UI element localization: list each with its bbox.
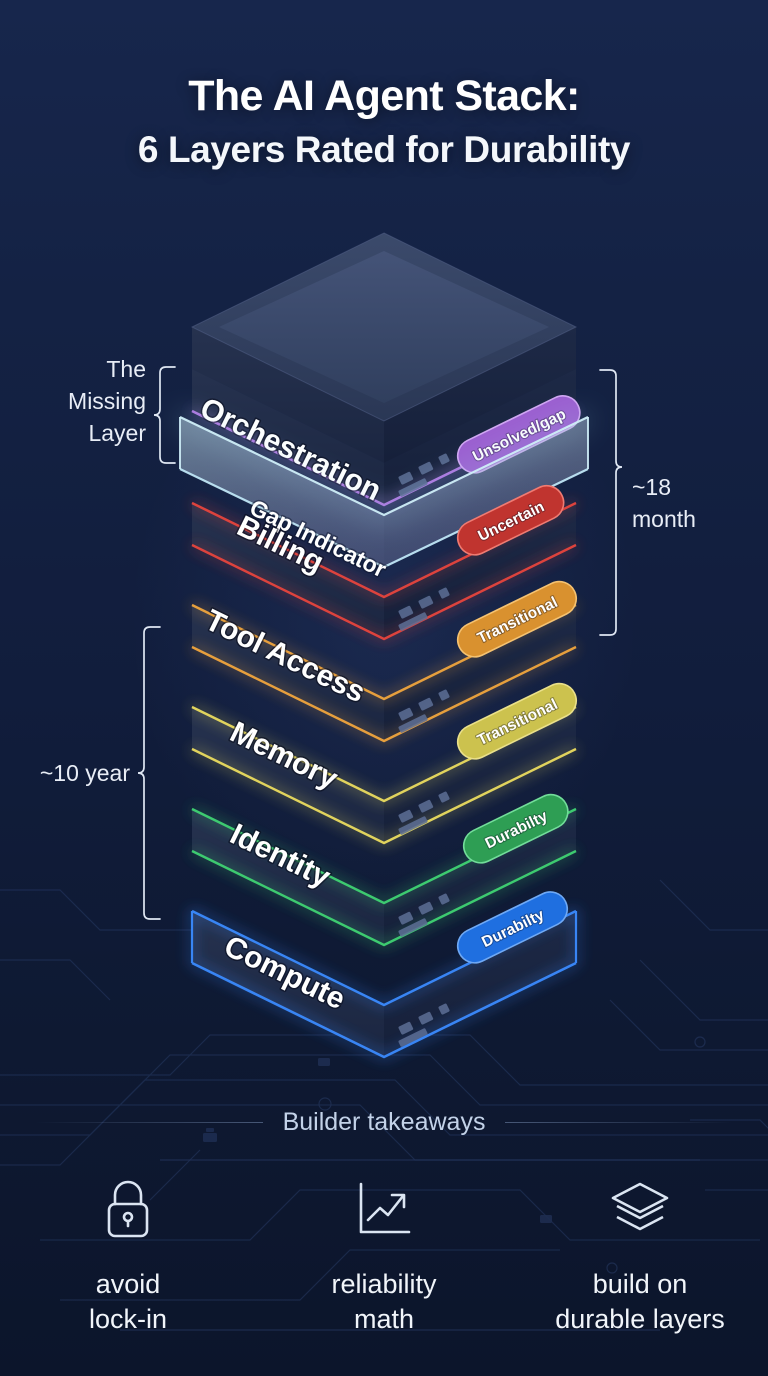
layers-icon xyxy=(607,1175,673,1245)
takeaway-item-reliability-math[interactable]: reliability math xyxy=(256,1175,512,1336)
takeaways-title: Builder takeaways xyxy=(283,1108,486,1137)
takeaway-label-build-on-durable-layers: build on durable layers xyxy=(555,1267,725,1336)
takeaways-rule-left xyxy=(36,1122,263,1123)
isometric-stack: Orchestration Unsolved/gap Gap Indicator xyxy=(0,215,768,1095)
ten-year-label: ~10 year xyxy=(40,760,130,786)
takeaways-rule-right xyxy=(505,1122,732,1123)
missing-layer-line-2: Missing xyxy=(68,388,146,414)
takeaway-item-avoid-lock-in[interactable]: avoid lock-in xyxy=(0,1175,256,1336)
chart-icon xyxy=(353,1175,415,1245)
annotation-eighteen-month: ~18 month xyxy=(600,370,696,635)
builder-takeaways-section: Builder takeaways avoid lock-in xyxy=(0,1108,768,1336)
takeaways-header: Builder takeaways xyxy=(0,1108,768,1137)
stack-svg: Orchestration Unsolved/gap Gap Indicator xyxy=(0,215,768,1095)
annotation-missing-layer: The Missing Layer xyxy=(68,356,175,463)
missing-layer-line-1: The xyxy=(106,356,146,382)
missing-layer-line-3: Layer xyxy=(88,420,146,446)
page-title-line-1: The AI Agent Stack: xyxy=(0,72,768,120)
takeaway-item-build-on-durable-layers[interactable]: build on durable layers xyxy=(512,1175,768,1336)
takeaway-label-avoid-lock-in: avoid lock-in xyxy=(89,1267,167,1336)
takeaways-grid: avoid lock-in reliability math build xyxy=(0,1175,768,1336)
page-header: The AI Agent Stack: 6 Layers Rated for D… xyxy=(0,0,768,173)
page-title-line-2: 6 Layers Rated for Durability xyxy=(0,128,768,172)
lock-icon xyxy=(99,1175,157,1245)
eighteen-month-line-2: month xyxy=(632,506,696,532)
annotation-ten-year: ~10 year xyxy=(40,627,160,919)
takeaway-label-reliability-math: reliability math xyxy=(331,1267,436,1336)
eighteen-month-line-1: ~18 xyxy=(632,474,671,500)
